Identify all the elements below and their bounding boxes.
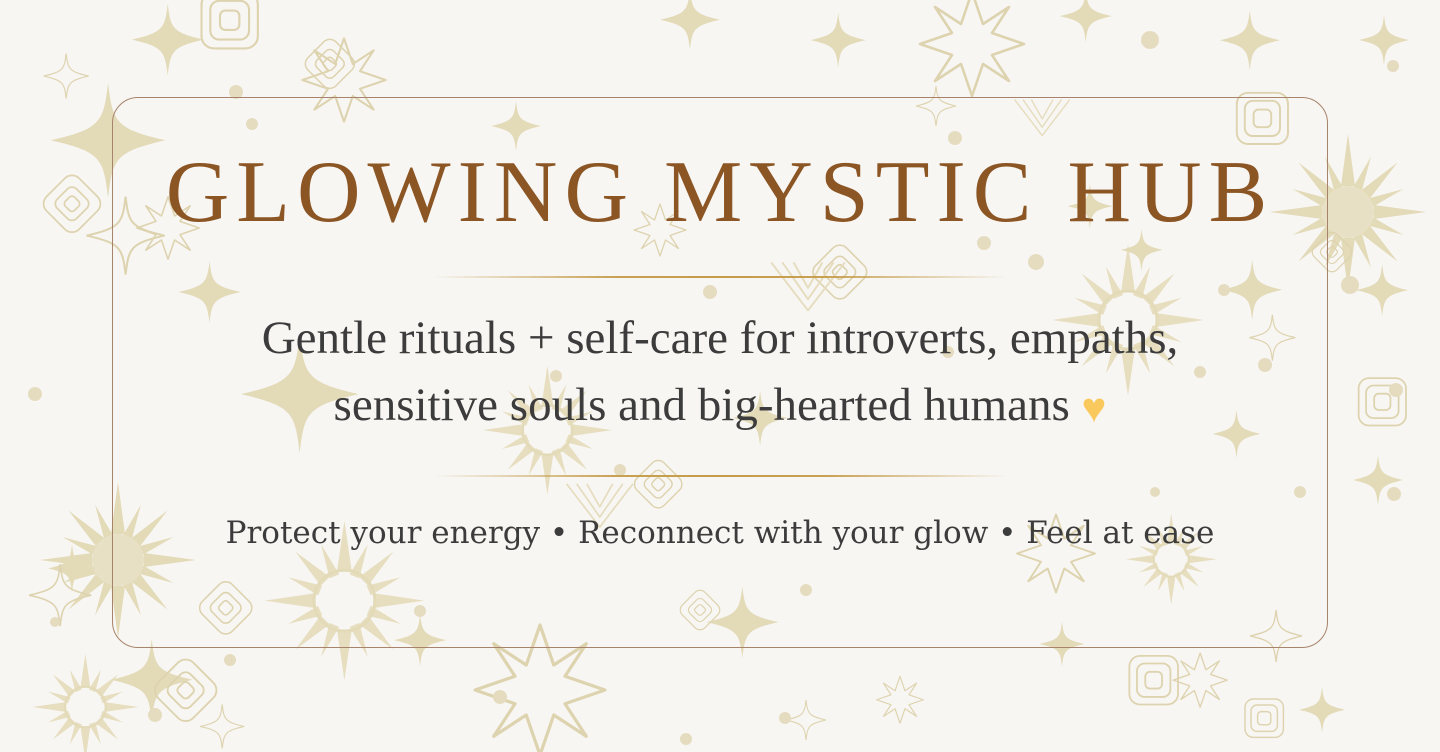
- heart-icon: ♥: [1082, 386, 1107, 432]
- sparkle-ornament: [1353, 455, 1403, 505]
- sparkle-ornament: [132, 4, 204, 76]
- sparkle-ornament: [1359, 15, 1409, 65]
- nested-diamond-ornament: [150, 655, 221, 726]
- sparkle-ornament: [1220, 10, 1280, 70]
- sparkle-outline-ornament: [200, 704, 244, 748]
- sparkle-ornament: [660, 0, 720, 50]
- sparkle-ornament: [1060, 0, 1112, 42]
- sparkle-outline-ornament: [786, 700, 826, 740]
- sparkle-outline-ornament: [29, 564, 91, 626]
- nested-diamond-ornament: [39, 171, 104, 236]
- sparkle-ornament: [1356, 264, 1408, 316]
- sparkle-outline-ornament: [44, 54, 89, 99]
- subtitle-line-2: sensitive souls and big-hearted humans: [334, 379, 1070, 431]
- divider-lower: [433, 475, 1008, 477]
- nested-square-ornament: [1359, 378, 1406, 425]
- nested-square-ornament: [1245, 699, 1283, 737]
- nested-square-ornament: [1129, 656, 1178, 705]
- sunburst-ornament: [20, 642, 151, 752]
- starburst-ornament: [920, 0, 1024, 96]
- subtitle: Gentle rituals + self-care for introvert…: [262, 305, 1179, 439]
- tagline: Protect your energy • Reconnect with you…: [226, 515, 1215, 552]
- mystic-hub-banner: GLOWING MYSTIC HUB Gentle rituals + self…: [0, 0, 1440, 752]
- starburst-ornament: [877, 676, 924, 723]
- divider-upper: [433, 276, 1008, 278]
- starburst-ornament: [1173, 653, 1227, 707]
- sparkle-ornament: [811, 13, 866, 68]
- sparkle-ornament: [111, 639, 193, 721]
- subtitle-line-1: Gentle rituals + self-care for introvert…: [262, 312, 1179, 364]
- nested-square-ornament: [202, 0, 258, 48]
- sparkle-ornament: [48, 544, 96, 592]
- banner-content: GLOWING MYSTIC HUB Gentle rituals + self…: [112, 97, 1328, 648]
- nested-diamond-ornament: [302, 36, 358, 92]
- sparkle-ornament: [1299, 687, 1345, 733]
- page-title: GLOWING MYSTIC HUB: [166, 149, 1275, 237]
